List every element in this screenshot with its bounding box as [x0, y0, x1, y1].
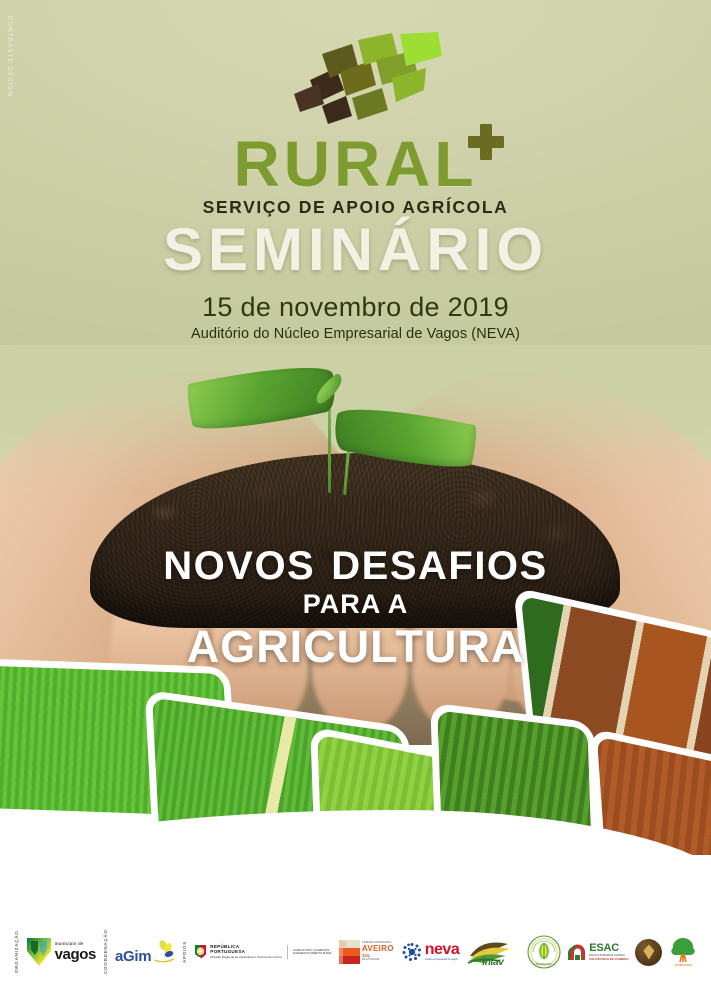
logo-neva[interactable]: neva núcleo empresarial de vagos	[401, 941, 459, 963]
headline-block: NOVOSDESAFIOS PARA A AGRICULTURA	[0, 545, 711, 673]
event-venue: Auditório do Núcleo Empresarial de Vagos…	[0, 326, 711, 342]
logo-brown-seal[interactable]	[635, 939, 662, 966]
seal-badge-icon	[635, 939, 662, 966]
rural-wordmark: RURAL	[234, 134, 478, 195]
agim-leaf-icon	[153, 940, 175, 964]
neva-name: neva	[425, 942, 459, 958]
event-title: SEMINÁRIO	[0, 220, 711, 280]
vagos-v-icon	[26, 937, 52, 967]
aveiro-note: DE ATIVIDADE	[362, 959, 394, 962]
rp-line2: PORTUGUESA	[210, 950, 282, 955]
headline-novos: NOVOS	[163, 544, 315, 588]
leaf-grid-svg	[266, 28, 446, 132]
portugal-shield-icon	[194, 944, 207, 960]
partner-logo-strip: ORGANIZAÇÃO	[0, 904, 711, 1000]
neva-sub: núcleo empresarial de vagos	[425, 959, 459, 962]
seedling	[250, 375, 480, 485]
logo-republica-portuguesa[interactable]: REPÚBLICA PORTUGUESA Direção Regional de…	[194, 944, 332, 960]
esac-sub2: POLITÉCNICO DE COIMBRA	[589, 958, 628, 961]
logo-iniav[interactable]: iniav	[466, 936, 520, 968]
plus-icon	[468, 124, 504, 160]
rp-right-text: AGRICULTURA, FLORESTAS E DESENVOLVIMENTO…	[293, 949, 332, 956]
rp-divider	[287, 945, 288, 959]
rp-text: REPÚBLICA PORTUGUESA Direção Regional de…	[210, 945, 282, 959]
confagri-name: CONFAGRI	[669, 963, 697, 967]
esac-arch-icon	[568, 943, 587, 961]
poster: CONTRASTE DESIGN	[0, 0, 711, 1000]
iniav-name: iniav	[482, 957, 503, 968]
rp-sub: Direção Regional de Agricultura e Pescas…	[210, 956, 282, 959]
logo-confagri[interactable]: CONFAGRI	[669, 937, 697, 967]
logo-bairrada[interactable]: BAIRRADA	[527, 935, 561, 969]
aveiro-blocks-icon	[339, 940, 360, 964]
footer-label-apoios: APOIOS	[182, 931, 187, 973]
esac-text: ESAC ESCOLA SUPERIOR AGRÁRIA POLITÉCNICO…	[589, 943, 628, 960]
tree-icon: CONFAGRI	[669, 937, 697, 967]
footer-label-coordenacao: COORDENAÇÃO	[103, 931, 108, 973]
footer-label-organizacao: ORGANIZAÇÃO	[14, 931, 19, 973]
headline-line-2: PARA A	[0, 589, 711, 620]
logo-agim[interactable]: aGim	[115, 940, 175, 964]
rp-right-2: E DESENVOLVIMENTO RURAL	[293, 952, 332, 955]
logo-vagos[interactable]: município de vagos	[26, 937, 96, 967]
aveiro-text: CÂMARA MUNICIPAL AVEIRO SUL DE ATIVIDADE	[362, 942, 394, 961]
rural-leaf-logo-icon	[266, 28, 446, 132]
vagos-text: município de vagos	[55, 942, 96, 961]
logo-aveiro[interactable]: CÂMARA MUNICIPAL AVEIRO SUL DE ATIVIDADE	[339, 940, 394, 964]
logo-esac[interactable]: ESAC ESCOLA SUPERIOR AGRÁRIA POLITÉCNICO…	[568, 943, 628, 961]
stem	[328, 409, 331, 493]
iniav-leaf-icon: iniav	[466, 936, 520, 968]
brand-lockup: RURAL SERVIÇO DE APOIO AGRÍCOLA	[0, 28, 711, 218]
headline-desafios: DESAFIOS	[331, 544, 547, 588]
vagos-name: vagos	[55, 947, 96, 962]
neva-spiral-icon	[401, 941, 423, 963]
bairrada-badge-icon: BAIRRADA	[527, 935, 561, 969]
agim-name: aGim	[115, 949, 151, 964]
svg-text:BAIRRADA: BAIRRADA	[537, 962, 552, 966]
event-date: 15 de novembro de 2019	[0, 292, 711, 323]
leaf-right-icon	[330, 397, 480, 477]
neva-text: neva núcleo empresarial de vagos	[425, 942, 459, 961]
field-tiles	[0, 660, 711, 905]
headline-line-3: AGRICULTURA	[0, 621, 711, 673]
headline-line-1: NOVOSDESAFIOS	[0, 545, 711, 587]
